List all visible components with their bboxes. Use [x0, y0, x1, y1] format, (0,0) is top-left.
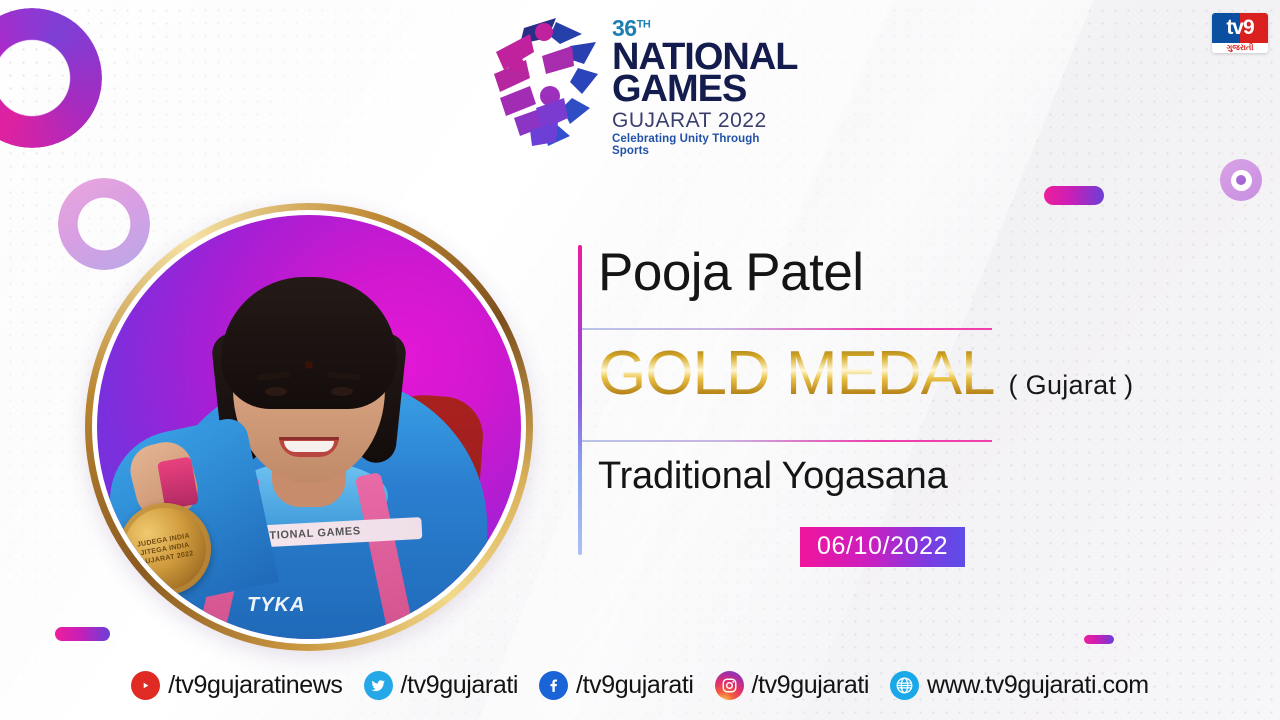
social-footer-bar: /tv9gujaratinews /tv9gujarati /tv9gujara… — [0, 662, 1280, 708]
youtube-icon — [131, 671, 160, 700]
youtube-handle: /tv9gujaratinews — [168, 671, 342, 700]
pill-decoration-bottom-left — [55, 627, 110, 641]
divider-top — [582, 328, 992, 330]
athlete-bindi — [305, 361, 313, 369]
pill-decoration-bottom-right — [1084, 635, 1114, 644]
tv9-logo-top: tv9 — [1212, 13, 1268, 43]
athlete-photo-inner-ring: NATIONAL GAMES JUDEGA INDIA JITEGA INDIA… — [92, 210, 526, 644]
concentric-circle-mid — [1231, 170, 1252, 191]
instagram-icon — [715, 671, 744, 700]
state-label: ( Gujarat ) — [1009, 370, 1134, 401]
social-item-facebook[interactable]: /tv9gujarati — [539, 671, 694, 700]
national-games-emblem-icon — [486, 12, 606, 152]
athlete-teeth — [284, 441, 334, 452]
concentric-circle-decoration — [1220, 159, 1262, 201]
athlete-info-panel: Pooja Patel GOLD MEDAL ( Gujarat ) Tradi… — [578, 245, 1238, 565]
logo-tagline: Celebrating Unity Through Sports — [612, 134, 798, 157]
athlete-eye-left — [265, 387, 287, 396]
event-name: Traditional Yogasana — [598, 455, 948, 498]
website-icon — [890, 671, 919, 700]
tv9-wordmark: tv9 — [1212, 13, 1268, 43]
date-badge: 06/10/2022 — [800, 527, 965, 567]
tv9-channel-logo: tv9 ગુજરાતી — [1212, 13, 1268, 53]
facebook-handle: /tv9gujarati — [576, 671, 694, 700]
national-games-logo: 36TH NATIONAL GAMES GUJARAT 2022 Celebra… — [486, 8, 796, 156]
medal-row: GOLD MEDAL ( Gujarat ) — [598, 343, 1133, 405]
vertical-accent-bar — [578, 245, 582, 555]
ring-decoration-small — [58, 178, 150, 270]
tv9-gujarati-subtext: ગુજરાતી — [1212, 43, 1268, 53]
graphic-canvas: 36TH NATIONAL GAMES GUJARAT 2022 Celebra… — [0, 0, 1280, 720]
social-item-website[interactable]: www.tv9gujarati.com — [890, 671, 1149, 700]
jacket-brand-label: TYKA — [247, 594, 305, 617]
athlete-hair — [221, 277, 397, 409]
pill-decoration-top-right — [1044, 186, 1104, 205]
twitter-handle: /tv9gujarati — [401, 671, 519, 700]
national-games-wordmark: 36TH NATIONAL GAMES GUJARAT 2022 Celebra… — [612, 7, 798, 157]
athlete-eye-right — [331, 387, 353, 396]
divider-bottom — [582, 440, 992, 442]
athlete-name: Pooja Patel — [598, 245, 864, 301]
facebook-icon — [539, 671, 568, 700]
medal-label: GOLD MEDAL — [598, 343, 995, 405]
social-item-twitter[interactable]: /tv9gujarati — [364, 671, 519, 700]
athlete-photo-frame: NATIONAL GAMES JUDEGA INDIA JITEGA INDIA… — [85, 203, 533, 651]
logo-line-games: GAMES — [612, 70, 798, 108]
website-handle: www.tv9gujarati.com — [927, 671, 1149, 700]
athlete-photo: NATIONAL GAMES JUDEGA INDIA JITEGA INDIA… — [97, 215, 521, 639]
social-item-instagram[interactable]: /tv9gujarati — [715, 671, 870, 700]
ring-decoration-large — [0, 8, 102, 148]
instagram-handle: /tv9gujarati — [752, 671, 870, 700]
logo-line-gujarat-2022: GUJARAT 2022 — [612, 110, 798, 131]
concentric-circle-core — [1236, 175, 1246, 185]
twitter-icon — [364, 671, 393, 700]
social-item-youtube[interactable]: /tv9gujaratinews — [131, 671, 342, 700]
